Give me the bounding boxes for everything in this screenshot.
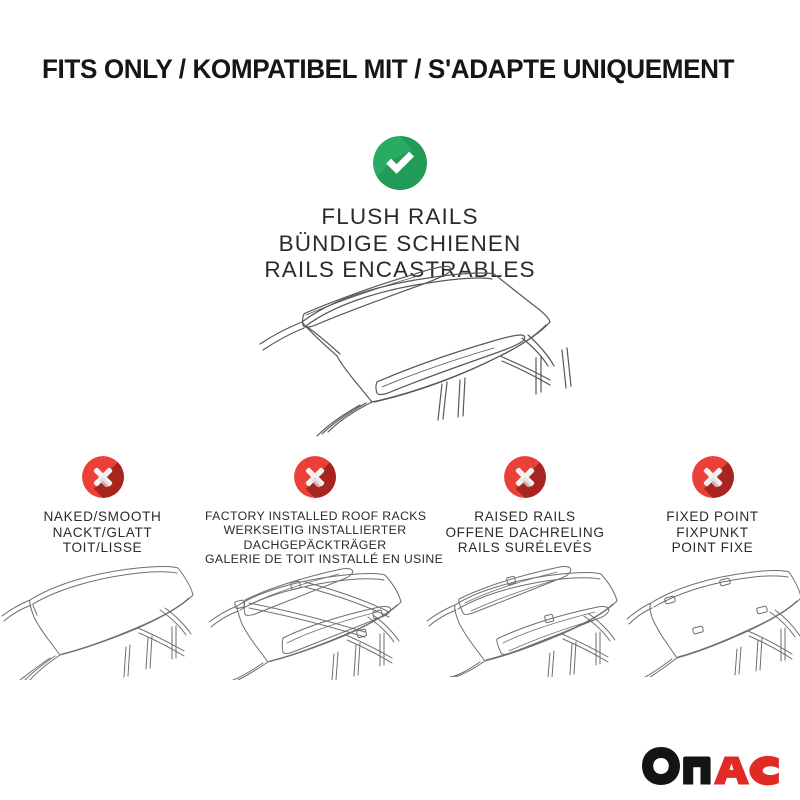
- omac-logo: [641, 744, 780, 788]
- excluded-label-en: FIXED POINT: [625, 509, 800, 525]
- red-cross-circle-icon: [82, 456, 124, 498]
- excluded-type-fixed-point: FIXED POINT FIXPUNKT POINT FIXE: [625, 450, 800, 700]
- excluded-label-en: RAISED RAILS: [425, 509, 625, 525]
- excluded-label-de: OFFENE DACHRELING: [425, 525, 625, 541]
- car-roof-factory-racks-illustration: [205, 558, 425, 680]
- excluded-head: FACTORY INSTALLED ROOF RACKS WERKSEITIG …: [205, 450, 425, 566]
- car-roof-flush-rails-illustration: [232, 262, 592, 437]
- excluded-type-raised-rails: RAISED RAILS OFFENE DACHRELING RAILS SUR…: [425, 450, 625, 700]
- omac-letter-o: [642, 747, 680, 785]
- excluded-labels: FIXED POINT FIXPUNKT POINT FIXE: [625, 509, 800, 556]
- page-title: FITS ONLY / KOMPATIBEL MIT / S'ADAPTE UN…: [42, 53, 761, 85]
- omac-letter-c: [749, 756, 778, 785]
- excluded-label-fr: POINT FIXE: [625, 540, 800, 556]
- excluded-labels: NAKED/SMOOTH NACKT/GLATT TOIT/LISSE: [0, 509, 205, 556]
- approved-label-en: FLUSH RAILS: [0, 204, 800, 231]
- approved-label-de: BÜNDIGE SCHIENEN: [0, 231, 800, 258]
- excluded-labels: RAISED RAILS OFFENE DACHRELING RAILS SUR…: [425, 509, 625, 556]
- omac-letter-m: [683, 757, 710, 785]
- red-cross-circle-icon: [692, 456, 734, 498]
- car-roof-naked-smooth-illustration: [0, 555, 205, 680]
- excluded-label-de: FIXPUNKT: [625, 525, 800, 541]
- excluded-label-de-2: DACHGEPÄCKTRÄGER: [205, 538, 425, 552]
- excluded-label-de: NACKT/GLATT: [0, 525, 205, 541]
- omac-letter-a: [714, 757, 750, 785]
- car-roof-raised-rails-illustration: [425, 555, 625, 677]
- excluded-type-factory-racks: FACTORY INSTALLED ROOF RACKS WERKSEITIG …: [205, 450, 425, 700]
- excluded-head: FIXED POINT FIXPUNKT POINT FIXE: [625, 450, 800, 556]
- red-cross-circle-icon: [504, 456, 546, 498]
- excluded-types-section: NAKED/SMOOTH NACKT/GLATT TOIT/LISSE: [0, 450, 800, 700]
- red-cross-circle-icon: [294, 456, 336, 498]
- car-roof-fixed-point-illustration: [625, 555, 800, 677]
- excluded-head: NAKED/SMOOTH NACKT/GLATT TOIT/LISSE: [0, 450, 205, 556]
- green-check-circle-icon: [373, 136, 427, 190]
- excluded-label-fr: RAILS SURÉLEVÉS: [425, 540, 625, 556]
- excluded-label-en: NAKED/SMOOTH: [0, 509, 205, 525]
- excluded-label-fr: TOIT/LISSE: [0, 540, 205, 556]
- excluded-head: RAISED RAILS OFFENE DACHRELING RAILS SUR…: [425, 450, 625, 556]
- excluded-label-de-1: WERKSEITIG INSTALLIERTER: [205, 523, 425, 537]
- excluded-label-en: FACTORY INSTALLED ROOF RACKS: [205, 509, 425, 523]
- excluded-type-naked-smooth: NAKED/SMOOTH NACKT/GLATT TOIT/LISSE: [0, 450, 205, 700]
